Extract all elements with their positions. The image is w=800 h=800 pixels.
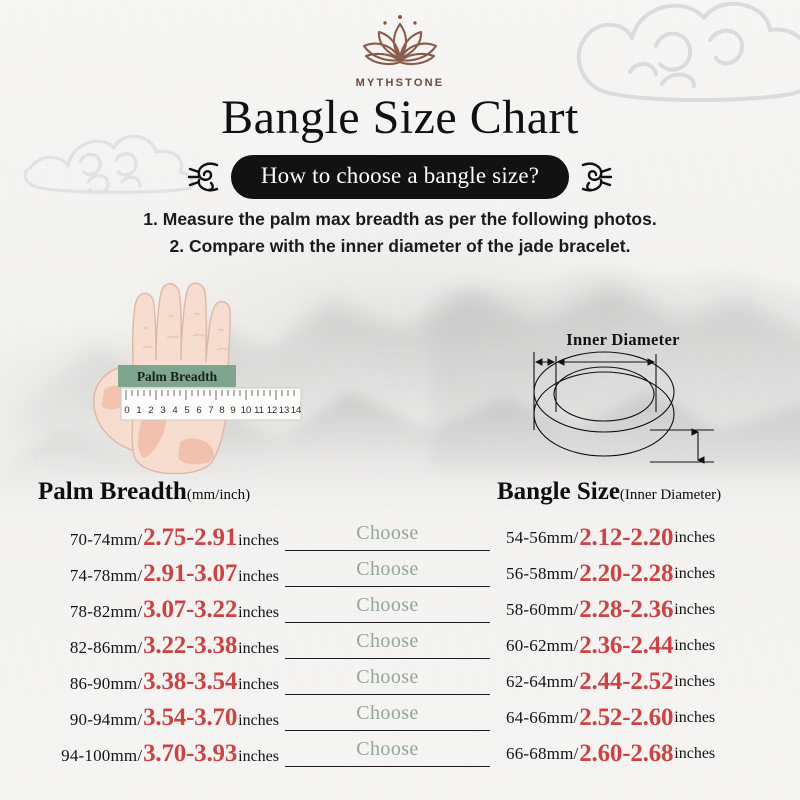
- bangle-unit: inches: [674, 565, 715, 583]
- bangle-mm: 58-60mm: [506, 600, 574, 620]
- choose-label[interactable]: Choose: [356, 521, 418, 543]
- brand-name: MYTHSTONE: [0, 77, 800, 89]
- palm-inches: 2.75-2.91: [142, 524, 238, 551]
- choose-underline: [285, 766, 490, 767]
- choose-cell[interactable]: Choose: [285, 665, 490, 699]
- palm-mm: 74-78mm: [70, 566, 138, 585]
- table-row: 66-68mm/2.60-2.68inches: [492, 736, 792, 772]
- bangle-inches: 2.44-2.52: [578, 668, 674, 696]
- hand-palm-illustration: Palm Breadth 012 345 678 91011 121314: [88, 282, 318, 474]
- choose-cell[interactable]: Choose: [285, 629, 490, 663]
- svg-text:4: 4: [172, 405, 177, 416]
- palm-heading-main: Palm Breadth: [38, 478, 187, 505]
- table-row: 78-82mm/3.07-3.22inches Choose: [24, 592, 494, 628]
- brand-logo: MYTHSTONE: [0, 14, 800, 89]
- choose-label[interactable]: Choose: [356, 557, 418, 579]
- choose-underline: [285, 586, 490, 587]
- svg-text:8: 8: [219, 405, 224, 416]
- bangle-inches: 2.36-2.44: [578, 632, 674, 660]
- bangle-inches: 2.52-2.60: [578, 704, 674, 732]
- bangle-inches: 2.20-2.28: [578, 560, 674, 588]
- bangle-mm: 60-62mm: [506, 636, 574, 656]
- choose-cell[interactable]: Choose: [285, 737, 490, 771]
- table-row: 60-62mm/2.36-2.44inches: [492, 628, 792, 664]
- choose-label[interactable]: Choose: [356, 737, 418, 759]
- table-row: 62-64mm/2.44-2.52inches: [492, 664, 792, 700]
- palm-unit: inches: [238, 604, 279, 621]
- choose-underline: [285, 694, 490, 695]
- instruction-list: 1. Measure the palm max breadth as per t…: [0, 206, 800, 260]
- bangle-inches: 2.28-2.36: [578, 596, 674, 624]
- bangle-size-table: 54-56mm/2.12-2.20inches 56-58mm/2.20-2.2…: [492, 520, 792, 772]
- choose-underline: [285, 730, 490, 731]
- instruction-line-1: 1. Measure the palm max breadth as per t…: [0, 206, 800, 233]
- bangle-unit: inches: [674, 637, 715, 655]
- bangle-unit: inches: [674, 601, 715, 619]
- svg-text:3: 3: [160, 405, 165, 416]
- question-banner: How to choose a bangle size?: [0, 155, 800, 199]
- choose-underline: [285, 658, 490, 659]
- svg-text:Palm Breadth: Palm Breadth: [137, 369, 218, 384]
- table-row: 54-56mm/2.12-2.20inches: [492, 520, 792, 556]
- page-title: Bangle Size Chart: [0, 90, 800, 145]
- palm-unit: inches: [238, 748, 279, 765]
- table-row: 94-100mm/3.70-3.93inches Choose: [24, 736, 494, 772]
- svg-text:9: 9: [230, 405, 235, 416]
- choose-underline: [285, 550, 490, 551]
- table-row: 56-58mm/2.20-2.28inches: [492, 556, 792, 592]
- bangle-unit: inches: [674, 529, 715, 547]
- palm-inches: 3.22-3.38: [142, 632, 238, 659]
- choose-label[interactable]: Choose: [356, 665, 418, 687]
- svg-text:1: 1: [136, 405, 141, 416]
- poster-canvas: MYTHSTONE Bangle Size Chart How to choos…: [0, 0, 800, 800]
- instruction-line-2: 2. Compare with the inner diameter of th…: [0, 233, 800, 260]
- palm-inches: 3.70-3.93: [142, 740, 238, 767]
- choose-underline: [285, 622, 490, 623]
- svg-text:14: 14: [291, 405, 302, 416]
- choose-cell[interactable]: Choose: [285, 593, 490, 627]
- bangle-mm: 64-66mm: [506, 708, 574, 728]
- ruler: 012 345 678 91011 121314: [121, 388, 301, 420]
- bangle-mm: 66-68mm: [506, 744, 574, 764]
- bangle-mm: 62-64mm: [506, 672, 574, 692]
- svg-text:2: 2: [148, 405, 153, 416]
- table-row: 86-90mm/3.38-3.54inches Choose: [24, 664, 494, 700]
- table-row: 90-94mm/3.54-3.70inches Choose: [24, 700, 494, 736]
- table-row: 82-86mm/3.22-3.38inches Choose: [24, 628, 494, 664]
- table-row: 58-60mm/2.28-2.36inches: [492, 592, 792, 628]
- palm-unit: inches: [238, 676, 279, 693]
- bangle-unit: inches: [674, 673, 715, 691]
- bangle-unit: inches: [674, 709, 715, 727]
- palm-inches: 3.38-3.54: [142, 668, 238, 695]
- bangle-heading-main: Bangle Size: [497, 478, 620, 505]
- svg-text:13: 13: [279, 405, 290, 416]
- svg-text:10: 10: [241, 405, 252, 416]
- choose-label[interactable]: Choose: [356, 629, 418, 651]
- palm-inches: 3.07-3.22: [142, 596, 238, 623]
- palm-unit: inches: [238, 712, 279, 729]
- table-row: 64-66mm/2.52-2.60inches: [492, 700, 792, 736]
- bangle-inches: 2.12-2.20: [578, 524, 674, 552]
- choose-label[interactable]: Choose: [356, 593, 418, 615]
- palm-unit: inches: [238, 640, 279, 657]
- choose-cell[interactable]: Choose: [285, 557, 490, 591]
- bangle-mm: 56-58mm: [506, 564, 574, 584]
- bangle-ring-illustration: [498, 326, 748, 476]
- bangle-mm: 54-56mm: [506, 528, 574, 548]
- table-row: 70-74mm/2.75-2.91inches Choose: [24, 520, 494, 556]
- palm-section-heading: Palm Breadth(mm/inch): [38, 478, 250, 506]
- palm-mm: 94-100mm: [61, 746, 137, 765]
- table-row: 74-78mm/2.91-3.07inches Choose: [24, 556, 494, 592]
- bangle-section-heading: Bangle Size(Inner Diameter): [497, 478, 721, 506]
- palm-mm: 90-94mm: [70, 710, 138, 729]
- palm-breadth-table: 70-74mm/2.75-2.91inches Choose 74-78mm/2…: [24, 520, 494, 772]
- palm-unit: inches: [238, 532, 279, 549]
- palm-heading-sub: (mm/inch): [187, 487, 250, 503]
- svg-text:12: 12: [267, 405, 278, 416]
- svg-text:11: 11: [254, 405, 264, 416]
- question-pill: How to choose a bangle size?: [231, 155, 569, 199]
- svg-text:0: 0: [124, 405, 129, 416]
- palm-unit: inches: [238, 568, 279, 585]
- flourish-ornament-icon: [187, 157, 221, 197]
- svg-text:5: 5: [184, 405, 189, 416]
- svg-text:7: 7: [208, 405, 213, 416]
- bangle-unit: inches: [674, 745, 715, 763]
- choose-cell[interactable]: Choose: [285, 701, 490, 735]
- palm-mm: 86-90mm: [70, 674, 138, 693]
- svg-text:6: 6: [196, 405, 201, 416]
- palm-inches: 2.91-3.07: [142, 560, 238, 587]
- palm-mm: 82-86mm: [70, 638, 138, 657]
- bangle-inches: 2.60-2.68: [578, 740, 674, 768]
- bangle-heading-sub: (Inner Diameter): [620, 487, 721, 503]
- palm-inches: 3.54-3.70: [142, 704, 238, 731]
- flourish-ornament-icon: [579, 157, 613, 197]
- choose-cell[interactable]: Choose: [285, 521, 490, 555]
- palm-mm: 70-74mm: [70, 530, 138, 549]
- lotus-icon: [348, 14, 452, 76]
- palm-mm: 78-82mm: [70, 602, 138, 621]
- choose-label[interactable]: Choose: [356, 701, 418, 723]
